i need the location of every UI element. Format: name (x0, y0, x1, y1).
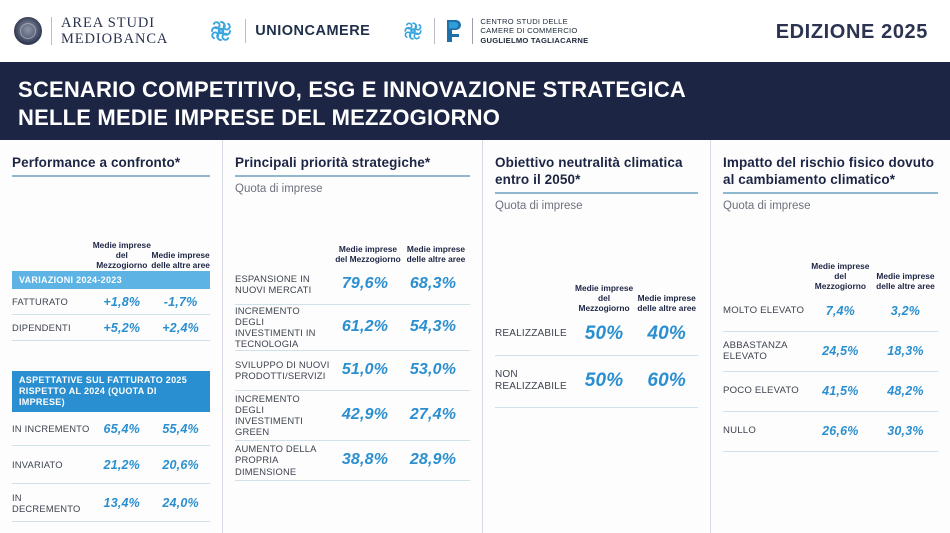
divider (472, 18, 473, 44)
row-label: NULLO (723, 425, 808, 437)
panel-subtitle: Quota di imprese (723, 200, 938, 212)
row-label: NON REALIZZABILE (495, 369, 573, 393)
row-label: INCREMENTO DEGLI INVESTIMENTI GREEN (235, 393, 331, 438)
column-header-altre-aree: Medie imprese delle altre aree (151, 251, 210, 271)
column-headers: Medie imprese del Mezzogiorno Medie impr… (495, 262, 698, 314)
panel-title: Principali priorità strategiche* (235, 154, 470, 171)
mediobanca-seal-icon (14, 17, 42, 45)
row-value-mezzogiorno: 79,6% (331, 275, 399, 293)
title-underline (235, 175, 470, 177)
table-row: INCREMENTO DEGLI INVESTIMENTI IN TECNOLO… (235, 305, 470, 351)
column-headers: Medie imprese del Mezzogiorno Medie impr… (235, 213, 470, 265)
tagliacarne-line1: CENTRO STUDI DELLE (480, 17, 588, 26)
logo-unioncamere: UNIONCAMERE (206, 16, 370, 46)
row-label: AUMENTO DELLA PROPRIA DIMENSIONE (235, 443, 331, 477)
table-row: MOLTO ELEVATO 7,4% 3,2% (723, 292, 938, 332)
title-underline (495, 192, 698, 194)
panel-impatto-rischio-fisico: Impatto del rischio fisico dovuto al cam… (710, 140, 950, 533)
mediobanca-wordmark: AREA STUDI MEDIOBANCA (61, 15, 168, 47)
row-label: SVILUPPO DI NUOVI PRODOTTI/SERVIZI (235, 359, 331, 382)
row-value-altre-aree: 18,3% (873, 344, 938, 358)
row-value-mezzogiorno: 50% (573, 370, 636, 392)
row-value-mezzogiorno: 24,5% (808, 344, 873, 358)
tagliacarne-line2: CAMERE DI COMMERCIO (480, 26, 588, 35)
mediobanca-line2: MEDIOBANCA (61, 31, 168, 47)
table-row: REALIZZABILE 50% 40% (495, 314, 698, 356)
table-row: AUMENTO DELLA PROPRIA DIMENSIONE 38,8% 2… (235, 441, 470, 481)
panel-title: Impatto del rischio fisico dovuto al cam… (723, 154, 938, 188)
column-header-altre-aree: Medie imprese delle altre aree (635, 294, 698, 314)
table-row: DIPENDENTI +5,2% +2,4% (12, 315, 210, 341)
column-header-mezzogiorno: Medie imprese del Mezzogiorno (573, 284, 636, 314)
row-value-mezzogiorno: +1,8% (92, 295, 151, 309)
row-label: FATTURATO (12, 296, 92, 307)
infographic-page: AREA STUDI MEDIOBANCA (0, 0, 950, 533)
row-label: ESPANSIONE IN NUOVI MERCATI (235, 273, 331, 296)
page-title: SCENARIO COMPETITIVO, ESG E INNOVAZIONE … (18, 76, 686, 132)
table-row: IN DECREMENTO 13,4% 24,0% (12, 484, 210, 522)
row-value-altre-aree: 30,3% (873, 424, 938, 438)
row-label: IN DECREMENTO (12, 492, 92, 515)
mediobanca-line1: AREA STUDI (61, 15, 168, 31)
section-banner-aspettative: ASPETTATIVE SUL FATTURATO 2025 RISPETTO … (12, 371, 210, 412)
row-value-altre-aree: 55,4% (151, 422, 210, 436)
panel-performance-a-confronto: Performance a confronto* Medie imprese d… (0, 140, 222, 533)
table-row: INVARIATO 21,2% 20,6% (12, 446, 210, 484)
panels-container: Performance a confronto* Medie imprese d… (0, 140, 950, 533)
logo-area-studi-mediobanca: AREA STUDI MEDIOBANCA (14, 15, 168, 47)
title-underline (723, 192, 938, 194)
panel-subtitle: Quota di imprese (495, 200, 698, 212)
logo-centro-studi-tagliacarne: CENTRO STUDI DELLE CAMERE DI COMMERCIO G… (400, 17, 588, 45)
column-header-altre-aree: Medie imprese delle altre aree (873, 272, 938, 292)
table-row: NON REALIZZABILE 50% 60% (495, 356, 698, 408)
panel-principali-priorita-strategiche: Principali priorità strategiche* Quota d… (222, 140, 482, 533)
row-value-altre-aree: 3,2% (873, 304, 938, 318)
panel-subtitle: Quota di imprese (235, 183, 470, 195)
tagliacarne-wordmark: CENTRO STUDI DELLE CAMERE DI COMMERCIO G… (480, 17, 588, 45)
table-row: IN INCREMENTO 65,4% 55,4% (12, 412, 210, 446)
table-row: SVILUPPO DI NUOVI PRODOTTI/SERVIZI 51,0%… (235, 351, 470, 391)
row-value-mezzogiorno: 26,6% (808, 424, 873, 438)
row-value-mezzogiorno: 41,5% (808, 384, 873, 398)
column-header-mezzogiorno: Medie imprese del Mezzogiorno (808, 262, 873, 292)
title-band: SCENARIO COMPETITIVO, ESG E INNOVAZIONE … (0, 62, 950, 140)
divider (434, 18, 435, 44)
spacer (12, 341, 210, 371)
edition-label: EDIZIONE 2025 (776, 21, 928, 44)
column-headers: Medie imprese del Mezzogiorno Medie impr… (12, 207, 210, 271)
unioncamere-swirl-icon (206, 16, 236, 46)
logo-group: AREA STUDI MEDIOBANCA (0, 15, 588, 47)
table-row: POCO ELEVATO 41,5% 48,2% (723, 372, 938, 412)
row-value-mezzogiorno: 51,0% (331, 361, 399, 379)
logo-bar: AREA STUDI MEDIOBANCA (0, 0, 950, 62)
row-value-altre-aree: 27,4% (399, 406, 467, 424)
column-header-mezzogiorno: Medie imprese del Mezzogiorno (92, 241, 151, 271)
row-value-mezzogiorno: 7,4% (808, 304, 873, 318)
row-label: POCO ELEVATO (723, 385, 808, 397)
divider (245, 19, 246, 43)
section-banner-variazioni: VARIAZIONI 2024-2023 (12, 271, 210, 290)
row-value-mezzogiorno: 65,4% (92, 422, 151, 436)
row-value-altre-aree: 53,0% (399, 361, 467, 379)
column-headers: Medie imprese del Mezzogiorno Medie impr… (723, 240, 938, 292)
panel-obiettivo-neutralita-climatica: Obiettivo neutralità climatica entro il … (482, 140, 710, 533)
row-value-mezzogiorno: 13,4% (92, 496, 151, 510)
row-value-altre-aree: 24,0% (151, 496, 210, 510)
row-label: MOLTO ELEVATO (723, 305, 808, 317)
unioncamere-swirl-icon-small (400, 18, 426, 44)
table-row: INCREMENTO DEGLI INVESTIMENTI GREEN 42,9… (235, 391, 470, 441)
row-value-altre-aree: 28,9% (399, 451, 467, 469)
row-value-mezzogiorno: +5,2% (92, 321, 151, 335)
panel-title: Performance a confronto* (12, 154, 210, 171)
row-value-mezzogiorno: 61,2% (331, 318, 399, 336)
table-row: NULLO 26,6% 30,3% (723, 412, 938, 452)
page-title-line1: SCENARIO COMPETITIVO, ESG E INNOVAZIONE … (18, 77, 686, 102)
row-value-altre-aree: 68,3% (399, 275, 467, 293)
row-value-mezzogiorno: 38,8% (331, 451, 399, 469)
row-value-mezzogiorno: 21,2% (92, 458, 151, 472)
row-label: DIPENDENTI (12, 322, 92, 333)
row-value-altre-aree: 54,3% (399, 318, 467, 336)
tagliacarne-line3: GUGLIELMO TAGLIACARNE (480, 36, 588, 45)
page-title-line2: NELLE MEDIE IMPRESE DEL MEZZOGIORNO (18, 105, 500, 130)
row-label: INVARIATO (12, 459, 92, 470)
row-value-altre-aree: 40% (635, 323, 698, 345)
row-value-altre-aree: +2,4% (151, 321, 210, 335)
tagliacarne-mark-icon (443, 18, 465, 44)
column-header-mezzogiorno: Medie imprese del Mezzogiorno (334, 245, 402, 265)
row-label: ABBASTANZA ELEVATO (723, 340, 808, 363)
row-value-altre-aree: -1,7% (151, 295, 210, 309)
table-row: ABBASTANZA ELEVATO 24,5% 18,3% (723, 332, 938, 372)
table-row: FATTURATO +1,8% -1,7% (12, 289, 210, 315)
divider (51, 17, 52, 45)
row-value-altre-aree: 48,2% (873, 384, 938, 398)
table-row: ESPANSIONE IN NUOVI MERCATI 79,6% 68,3% (235, 265, 470, 305)
row-label: REALIZZABILE (495, 328, 573, 340)
row-value-mezzogiorno: 50% (573, 323, 636, 345)
row-label: INCREMENTO DEGLI INVESTIMENTI IN TECNOLO… (235, 305, 331, 350)
row-value-mezzogiorno: 42,9% (331, 406, 399, 424)
column-header-altre-aree: Medie imprese delle altre aree (402, 245, 470, 265)
row-value-altre-aree: 60% (635, 370, 698, 392)
row-value-altre-aree: 20,6% (151, 458, 210, 472)
panel-title: Obiettivo neutralità climatica entro il … (495, 154, 698, 188)
row-label: IN INCREMENTO (12, 423, 92, 434)
unioncamere-wordmark: UNIONCAMERE (255, 23, 370, 39)
title-underline (12, 175, 210, 177)
